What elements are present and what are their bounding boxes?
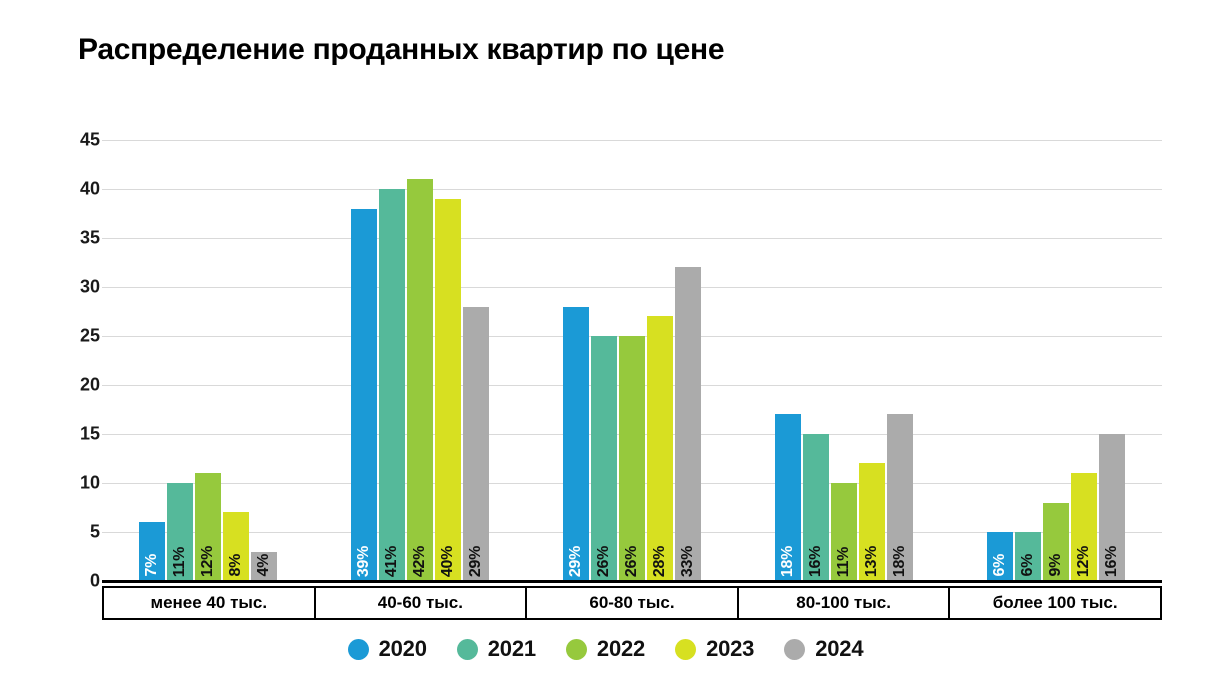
bar-2020-2[interactable]: 39%	[351, 209, 377, 581]
bar-wrapper: 39%	[351, 209, 377, 581]
x-axis-category-labels: менее 40 тыс.40-60 тыс.60-80 тыс.80-100 …	[102, 586, 1162, 620]
bar-2020-4[interactable]: 18%	[775, 414, 801, 581]
bar-2024-5[interactable]: 16%	[1099, 434, 1125, 581]
bar-2021-4[interactable]: 16%	[803, 434, 829, 581]
y-axis-tick-label: 5	[90, 522, 100, 543]
bar-value-label: 42%	[407, 546, 433, 577]
bar-value-label: 28%	[647, 546, 673, 577]
y-axis-tick-label: 15	[80, 424, 100, 445]
bar-value-label: 16%	[1099, 546, 1125, 577]
bar-value-label: 9%	[1043, 554, 1069, 577]
bar-2021-1[interactable]: 11%	[167, 483, 193, 581]
legend-swatch-circle-icon	[675, 639, 696, 660]
bar-wrapper: 29%	[563, 307, 589, 581]
bar-wrapper: 8%	[223, 512, 249, 581]
bar-2020-3[interactable]: 29%	[563, 307, 589, 581]
y-axis-tick-label: 35	[80, 228, 100, 249]
bar-2024-1[interactable]: 4%	[251, 552, 277, 581]
plot-area: 7%11%12%8%4%39%41%42%40%29%29%26%26%28%3…	[102, 140, 1162, 581]
bar-2022-4[interactable]: 11%	[831, 483, 857, 581]
legend-item-2024[interactable]: 2024	[784, 636, 863, 662]
bar-wrapper: 7%	[139, 522, 165, 581]
category-label: 80-100 тыс.	[739, 588, 951, 618]
bar-value-label: 18%	[887, 546, 913, 577]
category-label: 60-80 тыс.	[527, 588, 739, 618]
bar-wrapper: 4%	[251, 552, 277, 581]
category-label: более 100 тыс.	[950, 588, 1160, 618]
legend-swatch-circle-icon	[457, 639, 478, 660]
y-axis-tick-label: 30	[80, 277, 100, 298]
bar-group: 39%41%42%40%29%	[314, 140, 526, 581]
legend-label: 2023	[706, 636, 754, 662]
bar-group: 6%6%9%12%16%	[950, 140, 1162, 581]
bar-value-label: 33%	[675, 546, 701, 577]
bar-2021-2[interactable]: 41%	[379, 189, 405, 581]
bar-value-label: 11%	[167, 547, 193, 577]
legend-item-2021[interactable]: 2021	[457, 636, 536, 662]
bar-value-label: 4%	[251, 554, 277, 577]
y-axis-tick-label: 25	[80, 326, 100, 347]
bar-2023-3[interactable]: 28%	[647, 316, 673, 581]
legend-item-2023[interactable]: 2023	[675, 636, 754, 662]
bar-chart: Распределение проданных квартир по цене …	[0, 0, 1211, 687]
bar-value-label: 39%	[351, 546, 377, 577]
bar-wrapper: 16%	[1099, 434, 1125, 581]
bar-wrapper: 40%	[435, 199, 461, 581]
bar-wrapper: 11%	[831, 483, 857, 581]
bar-value-label: 7%	[139, 554, 165, 577]
bar-wrapper: 6%	[987, 532, 1013, 581]
bar-value-label: 26%	[591, 546, 617, 577]
legend-item-2020[interactable]: 2020	[348, 636, 427, 662]
bar-2024-3[interactable]: 33%	[675, 267, 701, 581]
y-axis-tick-label: 0	[90, 571, 100, 592]
legend-item-2022[interactable]: 2022	[566, 636, 645, 662]
chart-title: Распределение проданных квартир по цене	[78, 33, 724, 67]
bar-group: 7%11%12%8%4%	[102, 140, 314, 581]
bar-value-label: 26%	[619, 546, 645, 577]
bar-2023-5[interactable]: 12%	[1071, 473, 1097, 581]
bar-wrapper: 18%	[887, 414, 913, 581]
bar-value-label: 6%	[1015, 554, 1041, 577]
bar-wrapper: 16%	[803, 434, 829, 581]
bar-2020-1[interactable]: 7%	[139, 522, 165, 581]
y-axis-tick-label: 20	[80, 375, 100, 396]
bar-2021-5[interactable]: 6%	[1015, 532, 1041, 581]
bar-value-label: 29%	[463, 546, 489, 577]
y-axis-tick-label: 40	[80, 179, 100, 200]
bar-value-label: 41%	[379, 546, 405, 577]
bar-wrapper: 6%	[1015, 532, 1041, 581]
bar-value-label: 12%	[1071, 546, 1097, 577]
bar-2024-4[interactable]: 18%	[887, 414, 913, 581]
bar-value-label: 8%	[223, 554, 249, 577]
bar-wrapper: 11%	[167, 483, 193, 581]
category-label: 40-60 тыс.	[316, 588, 528, 618]
bar-2023-2[interactable]: 40%	[435, 199, 461, 581]
bar-value-label: 11%	[831, 547, 857, 577]
legend-label: 2020	[379, 636, 427, 662]
bar-value-label: 6%	[987, 554, 1013, 577]
legend-swatch-circle-icon	[348, 639, 369, 660]
y-axis-tick-label: 10	[80, 473, 100, 494]
y-axis-tick-labels: 051015202530354045	[60, 140, 100, 581]
bar-2023-1[interactable]: 8%	[223, 512, 249, 581]
bar-wrapper: 12%	[195, 473, 221, 581]
legend-swatch-circle-icon	[784, 639, 805, 660]
bar-2022-2[interactable]: 42%	[407, 179, 433, 581]
bar-2022-1[interactable]: 12%	[195, 473, 221, 581]
legend-label: 2021	[488, 636, 536, 662]
bar-value-label: 16%	[803, 546, 829, 577]
bar-wrapper: 33%	[675, 267, 701, 581]
bar-wrapper: 9%	[1043, 503, 1069, 581]
bar-wrapper: 41%	[379, 189, 405, 581]
y-axis-tick-label: 45	[80, 130, 100, 151]
bar-wrapper: 29%	[463, 307, 489, 581]
bar-2023-4[interactable]: 13%	[859, 463, 885, 581]
category-label: менее 40 тыс.	[104, 588, 316, 618]
bar-wrapper: 42%	[407, 179, 433, 581]
chart-legend: 20202021202220232024	[0, 636, 1211, 662]
bar-wrapper: 28%	[647, 316, 673, 581]
bar-2022-3[interactable]: 26%	[619, 336, 645, 581]
bar-value-label: 40%	[435, 546, 461, 577]
bar-value-label: 12%	[195, 546, 221, 577]
bar-2020-5[interactable]: 6%	[987, 532, 1013, 581]
bar-group: 29%26%26%28%33%	[526, 140, 738, 581]
bar-value-label: 29%	[563, 546, 589, 577]
bar-2022-5[interactable]: 9%	[1043, 503, 1069, 581]
bar-2021-3[interactable]: 26%	[591, 336, 617, 581]
bar-value-label: 18%	[775, 546, 801, 577]
bar-groups: 7%11%12%8%4%39%41%42%40%29%29%26%26%28%3…	[102, 140, 1162, 581]
bar-group: 18%16%11%13%18%	[738, 140, 950, 581]
legend-label: 2024	[815, 636, 863, 662]
bar-wrapper: 26%	[619, 336, 645, 581]
legend-label: 2022	[597, 636, 645, 662]
bar-wrapper: 12%	[1071, 473, 1097, 581]
bar-wrapper: 13%	[859, 463, 885, 581]
x-axis-line	[102, 580, 1162, 583]
bar-wrapper: 26%	[591, 336, 617, 581]
bar-value-label: 13%	[859, 546, 885, 577]
bar-wrapper: 18%	[775, 414, 801, 581]
bar-2024-2[interactable]: 29%	[463, 307, 489, 581]
legend-swatch-circle-icon	[566, 639, 587, 660]
